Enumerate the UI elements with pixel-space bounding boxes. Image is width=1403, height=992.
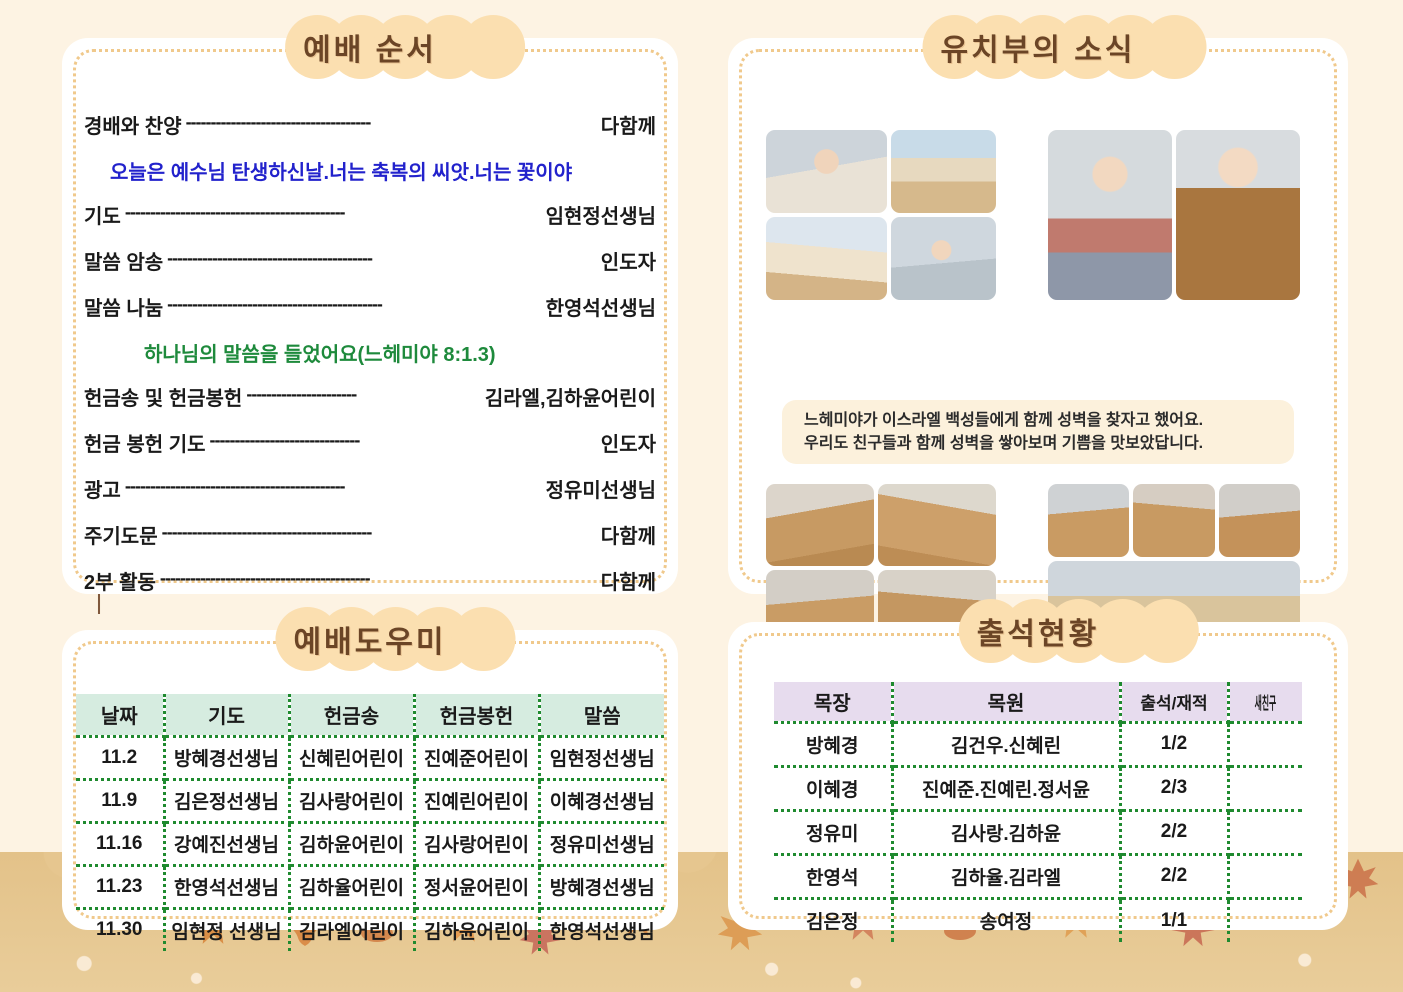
- photo-children-desks: [766, 217, 887, 300]
- order-item-dashes: ----------------------------------------…: [167, 294, 541, 315]
- worship-order-list: 경배와 찬양----------------------------------…: [84, 110, 656, 612]
- table-row: 김은정송여정1/1: [774, 898, 1302, 942]
- table-cell: 정서윤어린이: [414, 865, 539, 908]
- table-row: 정유미김사랑.김하윤2/2: [774, 810, 1302, 854]
- worship-order-note: 오늘은 예수님 탄생하신날.너는 축복의 씨앗.너는 꽃이야: [84, 156, 656, 200]
- attendance-card: 출석현황 목장목원출석/재적새친구 방혜경김건우.신혜린1/2이혜경진예준.진예…: [728, 622, 1348, 930]
- table-cell: [1228, 810, 1302, 854]
- table-cell: 2/3: [1120, 766, 1228, 810]
- table-cell: 김사랑.김하윤: [892, 810, 1120, 854]
- table-cell: [1228, 854, 1302, 898]
- table-cell: 진예준어린이: [414, 736, 539, 779]
- column-header-5: 말씀: [539, 694, 664, 736]
- order-item-label: 말씀 나눔: [84, 292, 163, 321]
- order-item-dashes: ----------------------------------------…: [125, 476, 542, 497]
- order-item-label: 기도: [84, 200, 121, 229]
- order-item-person: 정유미선생님: [546, 474, 656, 503]
- table-row: 이혜경진예준.진예린.정서윤2/3: [774, 766, 1302, 810]
- table-cell: 김사랑어린이: [414, 822, 539, 865]
- order-item-dashes: ------------------------------: [210, 430, 597, 451]
- table-row: 한영석김하율.김라엘2/2: [774, 854, 1302, 898]
- table-row: 11.30임현정 선생님김라엘어린이김하윤어린이한영석선생님: [76, 908, 664, 951]
- table-cell: 2/2: [1120, 854, 1228, 898]
- attendance-title: 출석현황: [977, 609, 1099, 653]
- table-cell: 1/1: [1120, 898, 1228, 942]
- table-cell: [1228, 766, 1302, 810]
- table-cell: 김라엘어린이: [289, 908, 414, 951]
- order-item-person: 인도자: [601, 428, 656, 457]
- order-item-person: 다함께: [601, 566, 656, 595]
- order-item-person: 인도자: [601, 246, 656, 275]
- table-cell: 김하율.김라엘: [892, 854, 1120, 898]
- news-title: 유치부의 소식: [941, 25, 1136, 69]
- column-header-3: 출석/재적: [1120, 682, 1228, 722]
- order-item-label: 2부 활동: [84, 566, 156, 595]
- table-cell: 김은정선생님: [164, 779, 289, 822]
- worship-helper-table: 날짜기도헌금송헌금봉헌말씀 11.2방혜경선생님신혜린어린이진예준어린이임현정선…: [76, 694, 664, 951]
- order-item-person: 다함께: [601, 520, 656, 549]
- table-cell: 1/2: [1120, 722, 1228, 766]
- table-row: 11.9김은정선생님김사랑어린이진예린어린이이혜경선생님: [76, 779, 664, 822]
- order-item-label: 광고: [84, 474, 121, 503]
- table-header-row: 날짜기도헌금송헌금봉헌말씀: [76, 694, 664, 736]
- worship-order-row: 광고--------------------------------------…: [84, 474, 656, 520]
- photo-wall-build-2: [878, 484, 996, 566]
- kindergarten-news-card: 유치부의 소식 느헤미야가 이스라엘 백성들에게 함께 성벽을 찾자고 했어요.…: [728, 38, 1348, 594]
- photo-wall-build-5: [1048, 484, 1129, 557]
- table-cell: 11.2: [76, 736, 164, 779]
- table-cell: 한영석선생님: [164, 865, 289, 908]
- order-item-label: 헌금송 및 헌금봉헌: [84, 382, 242, 411]
- table-cell: 11.9: [76, 779, 164, 822]
- photo-wall-build-1: [766, 484, 874, 566]
- order-item-person: 한영석선생님: [546, 292, 656, 321]
- table-cell: 김은정: [774, 898, 892, 942]
- column-header-4: 새친구: [1228, 682, 1302, 722]
- worship-order-row: 말씀 암송-----------------------------------…: [84, 246, 656, 292]
- column-header-2: 목원: [892, 682, 1120, 722]
- worship-helper-card: 예배도우미 날짜기도헌금송헌금봉헌말씀 11.2방혜경선생님신혜린어린이진예준어…: [62, 630, 678, 930]
- order-item-dashes: ----------------------------------------…: [125, 202, 542, 223]
- table-cell: 강예진선생님: [164, 822, 289, 865]
- table-header-row: 목장목원출석/재적새친구: [774, 682, 1302, 722]
- table-cell: [1228, 898, 1302, 942]
- worship-order-row: 헌금송 및 헌금봉헌----------------------김라엘,김하윤어…: [84, 382, 656, 428]
- table-cell: 한영석선생님: [539, 908, 664, 951]
- column-header-1: 날짜: [76, 694, 164, 736]
- order-item-dashes: -------------------------------------: [186, 112, 597, 133]
- column-header-2: 기도: [164, 694, 289, 736]
- worship-order-note: 하나님의 말씀을 들었어요(느헤미야 8:1.3): [84, 338, 656, 382]
- worship-order-row: 주기도문------------------------------------…: [84, 520, 656, 566]
- table-cell: 김하윤어린이: [289, 822, 414, 865]
- order-item-person: 임현정선생님: [546, 200, 656, 229]
- table-row: 방혜경김건우.신혜린1/2: [774, 722, 1302, 766]
- table-cell: 방혜경선생님: [164, 736, 289, 779]
- table-cell: 이혜경선생님: [539, 779, 664, 822]
- photo-girl-brown-dress: [1176, 130, 1300, 300]
- worship-order-card: 예배 순서 경배와 찬양----------------------------…: [62, 38, 678, 594]
- table-body: 11.2방혜경선생님신혜린어린이진예준어린이임현정선생님11.9김은정선생님김사…: [76, 736, 664, 951]
- column-header-3: 헌금송: [289, 694, 414, 736]
- order-item-dashes: ----------------------------------------…: [162, 522, 597, 543]
- news-caption-line-1: 느헤미야가 이스라엘 백성들에게 함께 성벽을 찾자고 했어요.: [804, 409, 1272, 432]
- table-cell: 2/2: [1120, 810, 1228, 854]
- table-row: 11.2방혜경선생님신혜린어린이진예준어린이임현정선생님: [76, 736, 664, 779]
- order-item-label: 말씀 암송: [84, 246, 163, 275]
- photo-girl-red-jacket: [1048, 130, 1172, 300]
- order-item-label: 주기도문: [84, 520, 158, 549]
- worship-order-row: 기도--------------------------------------…: [84, 200, 656, 246]
- column-header-4: 헌금봉헌: [414, 694, 539, 736]
- order-item-dashes: ----------------------------------------…: [160, 568, 597, 589]
- table-cell: 진예준.진예린.정서윤: [892, 766, 1120, 810]
- table-cell: 김건우.신혜린: [892, 722, 1120, 766]
- table-cell: 김하율어린이: [289, 865, 414, 908]
- photo-collage-top-left: [766, 130, 996, 300]
- worship-order-row: 경배와 찬양----------------------------------…: [84, 110, 656, 156]
- table-cell: 11.30: [76, 908, 164, 951]
- worship-order-title-bubble: 예배 순서: [285, 11, 455, 83]
- attendance-table: 목장목원출석/재적새친구 방혜경김건우.신혜린1/2이혜경진예준.진예린.정서윤…: [774, 682, 1302, 942]
- order-item-label: 경배와 찬양: [84, 110, 182, 139]
- table-row: 11.23한영석선생님김하율어린이정서윤어린이방혜경선생님: [76, 865, 664, 908]
- attendance-title-bubble: 출석현황: [959, 595, 1117, 667]
- table-body: 방혜경김건우.신혜린1/2이혜경진예준.진예린.정서윤2/3정유미김사랑.김하윤…: [774, 722, 1302, 942]
- news-caption-box: 느헤미야가 이스라엘 백성들에게 함께 성벽을 찾자고 했어요. 우리도 친구들…: [782, 400, 1294, 464]
- table-cell: 정유미선생님: [539, 822, 664, 865]
- order-item-person: 다함께: [601, 110, 656, 139]
- table-cell: 한영석: [774, 854, 892, 898]
- news-caption-line-2: 우리도 친구들과 함께 성벽을 쌓아보며 기쁨을 맛보았답니다.: [804, 432, 1272, 455]
- news-title-bubble: 유치부의 소식: [923, 11, 1154, 83]
- table-cell: 김하윤어린이: [414, 908, 539, 951]
- column-header-label: 새친구: [1255, 689, 1277, 714]
- order-item-dashes: ----------------------------------------…: [167, 248, 597, 269]
- order-item-dashes: ----------------------: [246, 384, 481, 405]
- photo-wall-build-6: [1133, 484, 1214, 557]
- table-cell: 김사랑어린이: [289, 779, 414, 822]
- worship-helper-title: 예배도우미: [294, 617, 447, 661]
- worship-helper-title-bubble: 예배도우미: [276, 603, 465, 675]
- photo-wall-build-7: [1219, 484, 1300, 557]
- news-body: 느헤미야가 이스라엘 백성들에게 함께 성벽을 찾자고 했어요. 우리도 친구들…: [756, 112, 1320, 574]
- table-cell: 송여정: [892, 898, 1120, 942]
- column-header-1: 목장: [774, 682, 892, 722]
- table-cell: 신혜린어린이: [289, 736, 414, 779]
- table-cell: 방혜경선생님: [539, 865, 664, 908]
- order-item-label: 헌금 봉헌 기도: [84, 428, 206, 457]
- worship-order-title: 예배 순서: [303, 25, 437, 69]
- photo-classroom-wide: [891, 130, 996, 213]
- table-cell: 진예린어린이: [414, 779, 539, 822]
- worship-order-row: 말씀 나눔-----------------------------------…: [84, 292, 656, 338]
- table-cell: 방혜경: [774, 722, 892, 766]
- table-row: 11.16강예진선생님김하윤어린이김사랑어린이정유미선생님: [76, 822, 664, 865]
- photo-collage-top-right: [1048, 130, 1300, 300]
- table-cell: 11.16: [76, 822, 164, 865]
- photo-classroom-girl-bible: [766, 130, 887, 213]
- worship-order-row: 헌금 봉헌 기도------------------------------인도…: [84, 428, 656, 474]
- table-cell: [1228, 722, 1302, 766]
- table-cell: 11.23: [76, 865, 164, 908]
- table-cell: 이혜경: [774, 766, 892, 810]
- table-cell: 임현정 선생님: [164, 908, 289, 951]
- photo-boy-microphone: [891, 217, 996, 300]
- table-cell: 임현정선생님: [539, 736, 664, 779]
- table-cell: 정유미: [774, 810, 892, 854]
- order-item-person: 김라엘,김하윤어린이: [485, 382, 656, 411]
